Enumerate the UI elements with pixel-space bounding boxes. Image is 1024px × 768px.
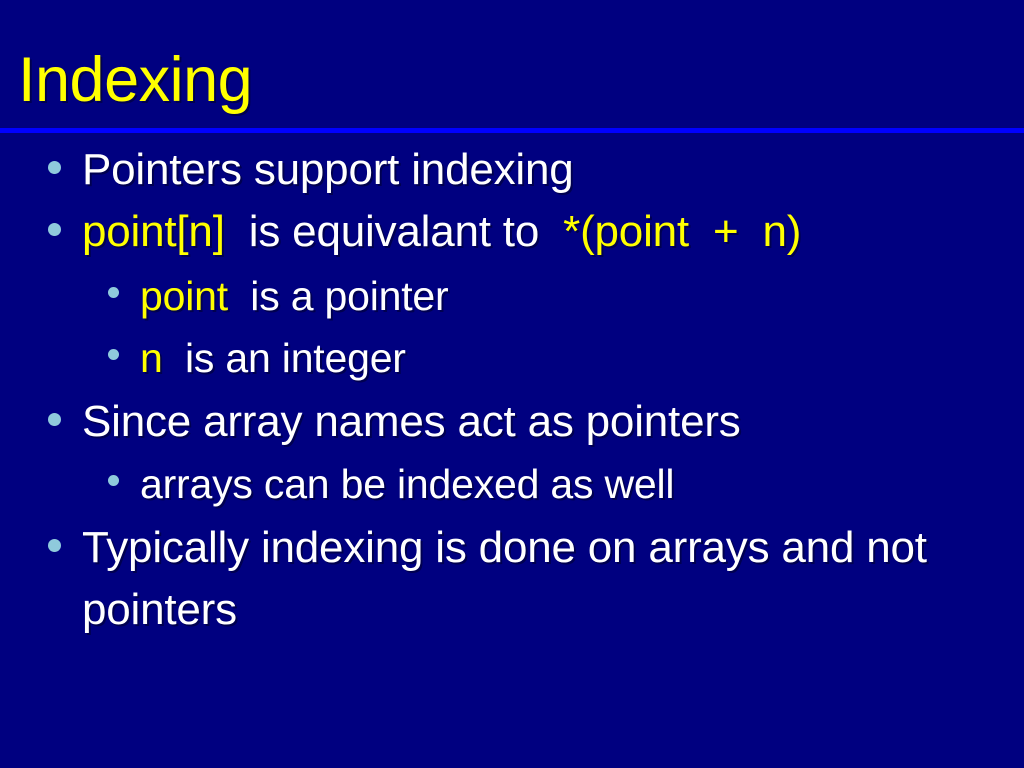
bullet-text: Pointers support indexing	[82, 139, 1024, 201]
bullet-item: n is an integer	[0, 327, 1024, 389]
text-run: Pointers support indexing	[82, 145, 574, 194]
slide-body: Pointers support indexingpoint[n] is equ…	[0, 137, 1024, 768]
page-title: Indexing	[18, 46, 252, 114]
bullet-item: Pointers support indexing	[0, 139, 1024, 201]
code-token: *(point + n)	[563, 207, 801, 256]
disc-bullet-icon	[48, 413, 61, 426]
text-run: Since array names act as pointers	[82, 397, 741, 446]
bullet-text: point[n] is equivalant to *(point + n)	[82, 201, 1024, 263]
disc-bullet-icon	[48, 161, 61, 174]
disc-bullet-icon	[48, 223, 61, 236]
bullet-item: point is a pointer	[0, 265, 1024, 327]
bullet-item: Typically indexing is done on arrays and…	[0, 517, 1024, 641]
bullet-text: arrays can be indexed as well	[140, 453, 1024, 515]
slide-title-area: Indexing	[0, 0, 1024, 133]
bullet-item: Since array names act as pointers	[0, 391, 1024, 453]
bullet-text: Since array names act as pointers	[82, 391, 1024, 453]
bullet-text: point is a pointer	[140, 265, 1024, 327]
text-run: Typically indexing is done on arrays and…	[82, 523, 939, 634]
disc-bullet-icon	[108, 349, 119, 360]
code-token: point	[140, 273, 228, 319]
bullet-text: n is an integer	[140, 327, 1024, 389]
disc-bullet-icon	[48, 539, 61, 552]
disc-bullet-icon	[108, 287, 119, 298]
text-run: is an integer	[163, 335, 406, 381]
text-run: is equivalant to	[225, 207, 563, 256]
code-token: n	[140, 335, 163, 381]
text-run: arrays can be indexed as well	[140, 461, 674, 507]
bullet-item: arrays can be indexed as well	[0, 453, 1024, 515]
disc-bullet-icon	[108, 475, 119, 486]
code-token: point[n]	[82, 207, 225, 256]
title-divider-rule	[0, 128, 1024, 133]
bullet-item: point[n] is equivalant to *(point + n)	[0, 201, 1024, 263]
text-run: is a pointer	[228, 273, 449, 319]
bullet-text: Typically indexing is done on arrays and…	[82, 517, 962, 641]
slide-canvas: Indexing Pointers support indexingpoint[…	[0, 0, 1024, 768]
